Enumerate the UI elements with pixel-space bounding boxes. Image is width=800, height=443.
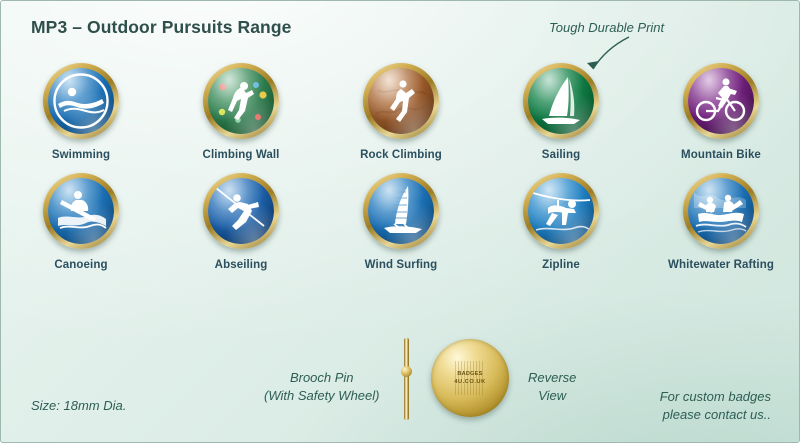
badge-face	[528, 178, 594, 244]
windsurfer-icon	[368, 178, 434, 244]
badge-cell-climbing-wall[interactable]: Climbing Wall	[166, 63, 316, 161]
badge-cell-abseiling[interactable]: Abseiling	[166, 173, 316, 271]
badge-whitewater-rafting[interactable]	[683, 173, 759, 249]
brooch-pin-icon	[401, 338, 411, 420]
badge-cell-swimming[interactable]: Swimming	[6, 63, 156, 161]
badge-label: Whitewater Rafting	[646, 259, 796, 271]
note-reverse-view: Reverse View	[528, 369, 576, 404]
badge-label: Sailing	[486, 149, 636, 161]
note-custom-line1: For custom badges	[660, 388, 771, 406]
note-reverse-line2: View	[528, 387, 576, 405]
badge-face	[368, 178, 434, 244]
note-custom-line2: please contact us..	[660, 406, 771, 424]
badge-face	[208, 68, 274, 134]
rock-climber-icon	[368, 68, 434, 134]
badge-label: Mountain Bike	[646, 149, 796, 161]
badge-label: Swimming	[6, 149, 156, 161]
badge-grid: Swimming	[1, 63, 800, 271]
zipline-rider-icon	[528, 178, 594, 244]
badge-label: Rock Climbing	[326, 149, 476, 161]
badge-back-stamp: BADGES 4U.CO.UK	[444, 370, 496, 386]
badge-row: Canoeing	[1, 173, 800, 271]
page-title: MP3 – Outdoor Pursuits Range	[31, 17, 291, 38]
note-reverse-line1: Reverse	[528, 369, 576, 387]
canoeist-icon	[48, 178, 114, 244]
badge-cell-wind-surfing[interactable]: Wind Surfing	[326, 173, 476, 271]
badge-cell-rock-climbing[interactable]: Rock Climbing	[326, 63, 476, 161]
annotation-tough-durable-print: Tough Durable Print	[549, 20, 664, 35]
badge-face	[48, 178, 114, 244]
swimmer-icon	[48, 68, 114, 134]
badge-row: Swimming	[1, 63, 800, 161]
badge-label: Abseiling	[166, 259, 316, 271]
badge-face	[208, 178, 274, 244]
gold-badge-back-icon: BADGES 4U.CO.UK	[431, 339, 509, 417]
note-size: Size: 18mm Dia.	[31, 397, 126, 415]
badge-mountain-bike[interactable]	[683, 63, 759, 139]
pin-bar	[404, 338, 409, 420]
abseiler-icon	[208, 178, 274, 244]
mountain-biker-icon	[688, 68, 754, 134]
note-brooch-line2: (With Safety Wheel)	[264, 387, 379, 405]
badge-label: Wind Surfing	[326, 259, 476, 271]
product-range-poster: MP3 – Outdoor Pursuits Range Tough Durab…	[0, 0, 800, 443]
badge-canoeing[interactable]	[43, 173, 119, 249]
badge-cell-zipline[interactable]: Zipline	[486, 173, 636, 271]
badge-face	[368, 68, 434, 134]
climber-on-wall-icon	[208, 68, 274, 134]
badge-label: Climbing Wall	[166, 149, 316, 161]
badge-climbing-wall[interactable]	[203, 63, 279, 139]
stamp-line2: 4U.CO.UK	[444, 378, 496, 386]
badge-cell-mountain-bike[interactable]: Mountain Bike	[646, 63, 796, 161]
pin-safety-wheel	[401, 366, 412, 377]
badge-face	[48, 68, 114, 134]
note-brooch-pin: Brooch Pin (With Safety Wheel)	[264, 369, 379, 404]
badge-label: Zipline	[486, 259, 636, 271]
badge-cell-canoeing[interactable]: Canoeing	[6, 173, 156, 271]
badge-wind-surfing[interactable]	[363, 173, 439, 249]
raft-paddlers-icon	[688, 178, 754, 244]
badge-rock-climbing[interactable]	[363, 63, 439, 139]
badge-abseiling[interactable]	[203, 173, 279, 249]
badge-zipline[interactable]	[523, 173, 599, 249]
badge-cell-whitewater-rafting[interactable]: Whitewater Rafting	[646, 173, 796, 271]
stamp-line1: BADGES	[444, 370, 496, 378]
note-custom-badges: For custom badges please contact us..	[660, 388, 771, 423]
badge-face	[688, 178, 754, 244]
curved-arrow-icon	[573, 35, 633, 79]
badge-face	[688, 68, 754, 134]
badge-label: Canoeing	[6, 259, 156, 271]
note-brooch-line1: Brooch Pin	[264, 369, 379, 387]
badge-swimming[interactable]	[43, 63, 119, 139]
